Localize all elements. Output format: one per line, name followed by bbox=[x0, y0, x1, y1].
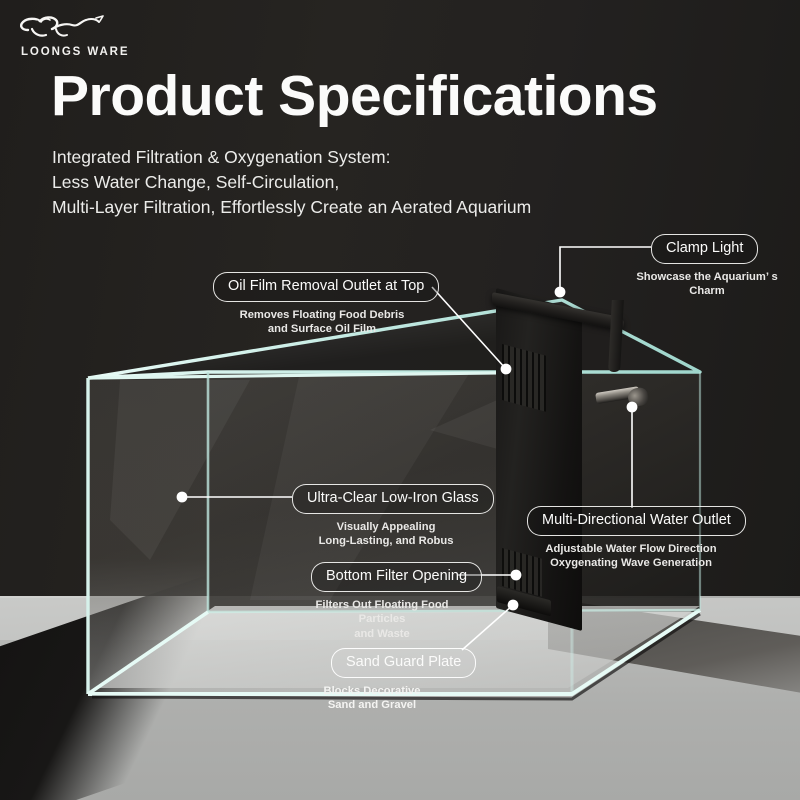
callout-description: Blocks Decorative Sand and Gravel bbox=[309, 684, 435, 713]
callout-description: Showcase the Aquarium’ s Charm bbox=[621, 270, 793, 299]
callout-sand-guard-plate[interactable]: Sand Guard Plate Blocks Decorative Sand … bbox=[331, 648, 476, 713]
callout-oil-film-removal-outlet[interactable]: Oil Film Removal Outlet at Top Removes F… bbox=[213, 272, 439, 337]
product-spec-poster: LOONGS WARE Product Specifications Integ… bbox=[0, 0, 800, 800]
callout-label[interactable]: Sand Guard Plate bbox=[331, 648, 476, 678]
callout-label[interactable]: Multi-Directional Water Outlet bbox=[527, 506, 746, 536]
callout-clamp-light[interactable]: Clamp Light Showcase the Aquarium’ s Cha… bbox=[651, 234, 793, 299]
callout-description: Visually Appealing Long-Lasting, and Rob… bbox=[292, 520, 480, 549]
dragon-script-logo-icon bbox=[10, 10, 130, 44]
callout-label[interactable]: Bottom Filter Opening bbox=[311, 562, 482, 592]
callout-ultra-clear-glass[interactable]: Ultra-Clear Low-Iron Glass Visually Appe… bbox=[292, 484, 494, 549]
callout-description: Removes Floating Food Debris and Surface… bbox=[213, 308, 431, 337]
callout-label[interactable]: Ultra-Clear Low-Iron Glass bbox=[292, 484, 494, 514]
callout-bottom-filter-opening[interactable]: Bottom Filter Opening Filters Out Floati… bbox=[311, 562, 482, 641]
filter-vent-slots-upper bbox=[502, 344, 546, 412]
callout-description: Filters Out Floating Food Particles and … bbox=[308, 598, 456, 642]
brand-logo: LOONGS WARE bbox=[10, 10, 130, 56]
callout-label[interactable]: Oil Film Removal Outlet at Top bbox=[213, 272, 439, 302]
page-title: Product Specifications bbox=[51, 68, 658, 125]
callout-multi-directional-water-outlet[interactable]: Multi-Directional Water Outlet Adjustabl… bbox=[527, 506, 746, 571]
callout-label[interactable]: Clamp Light bbox=[651, 234, 758, 264]
page-subtitle: Integrated Filtration & Oxygenation Syst… bbox=[52, 145, 531, 220]
callout-description: Adjustable Water Flow Direction Oxygenat… bbox=[527, 542, 735, 571]
brand-wordmark: LOONGS WARE bbox=[21, 46, 129, 58]
